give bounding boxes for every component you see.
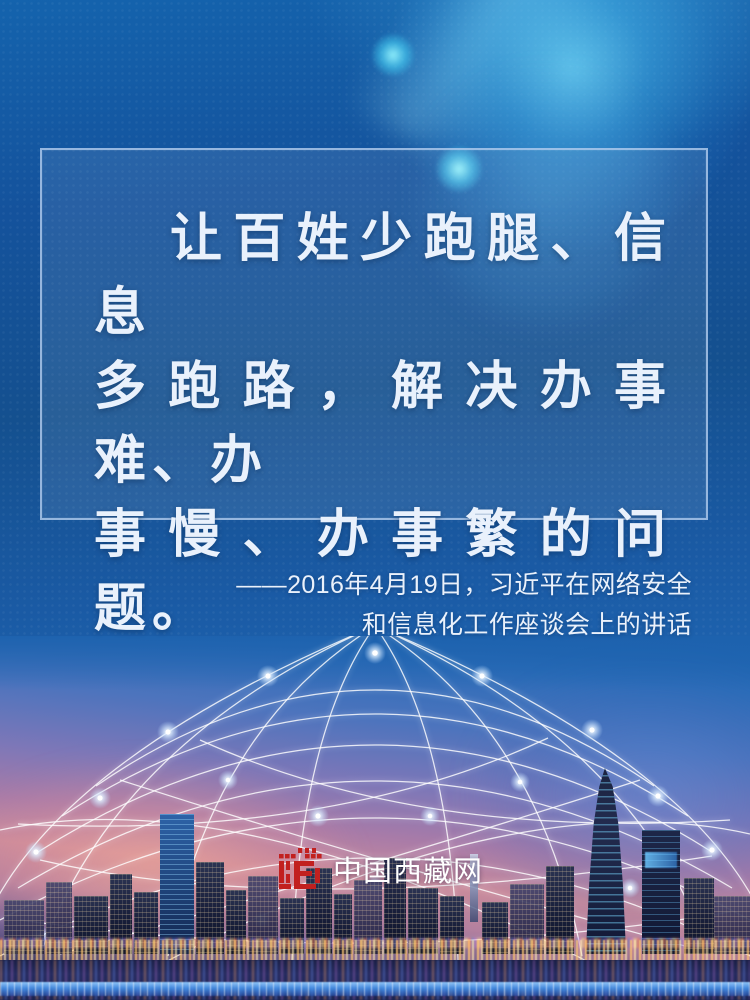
- attribution-line-2: 和信息化工作座谈会上的讲话: [200, 605, 692, 645]
- landmark-tower: [578, 768, 634, 954]
- site-logo-name: 中国西藏网: [333, 848, 483, 890]
- attribution: ——2016年4月19日，习近平在网络安全 和信息化工作座谈会上的讲话: [200, 565, 692, 645]
- city-photo-region: [0, 636, 750, 1000]
- tibet-seal-icon: [279, 848, 323, 890]
- quote-line-2: 多跑路，解决办事难、办: [94, 350, 672, 498]
- tower-blue-glass: [160, 814, 194, 954]
- quote-line-1: 让百姓少跑腿、信息: [94, 202, 672, 350]
- poster-root: 让百姓少跑腿、信息 多跑路，解决办事难、办 事慢、办事繁的问题。 ——2016年…: [0, 0, 750, 1000]
- tower-neon-sign: [645, 852, 677, 868]
- quote-panel: 让百姓少跑腿、信息 多跑路，解决办事难、办 事慢、办事繁的问题。: [40, 148, 708, 520]
- site-logo[interactable]: 中国西藏网: [279, 848, 483, 890]
- secondary-tower: [642, 830, 680, 954]
- attribution-line-1: ——2016年4月19日，习近平在网络安全: [200, 565, 692, 605]
- illuminated-bridge: [0, 982, 750, 996]
